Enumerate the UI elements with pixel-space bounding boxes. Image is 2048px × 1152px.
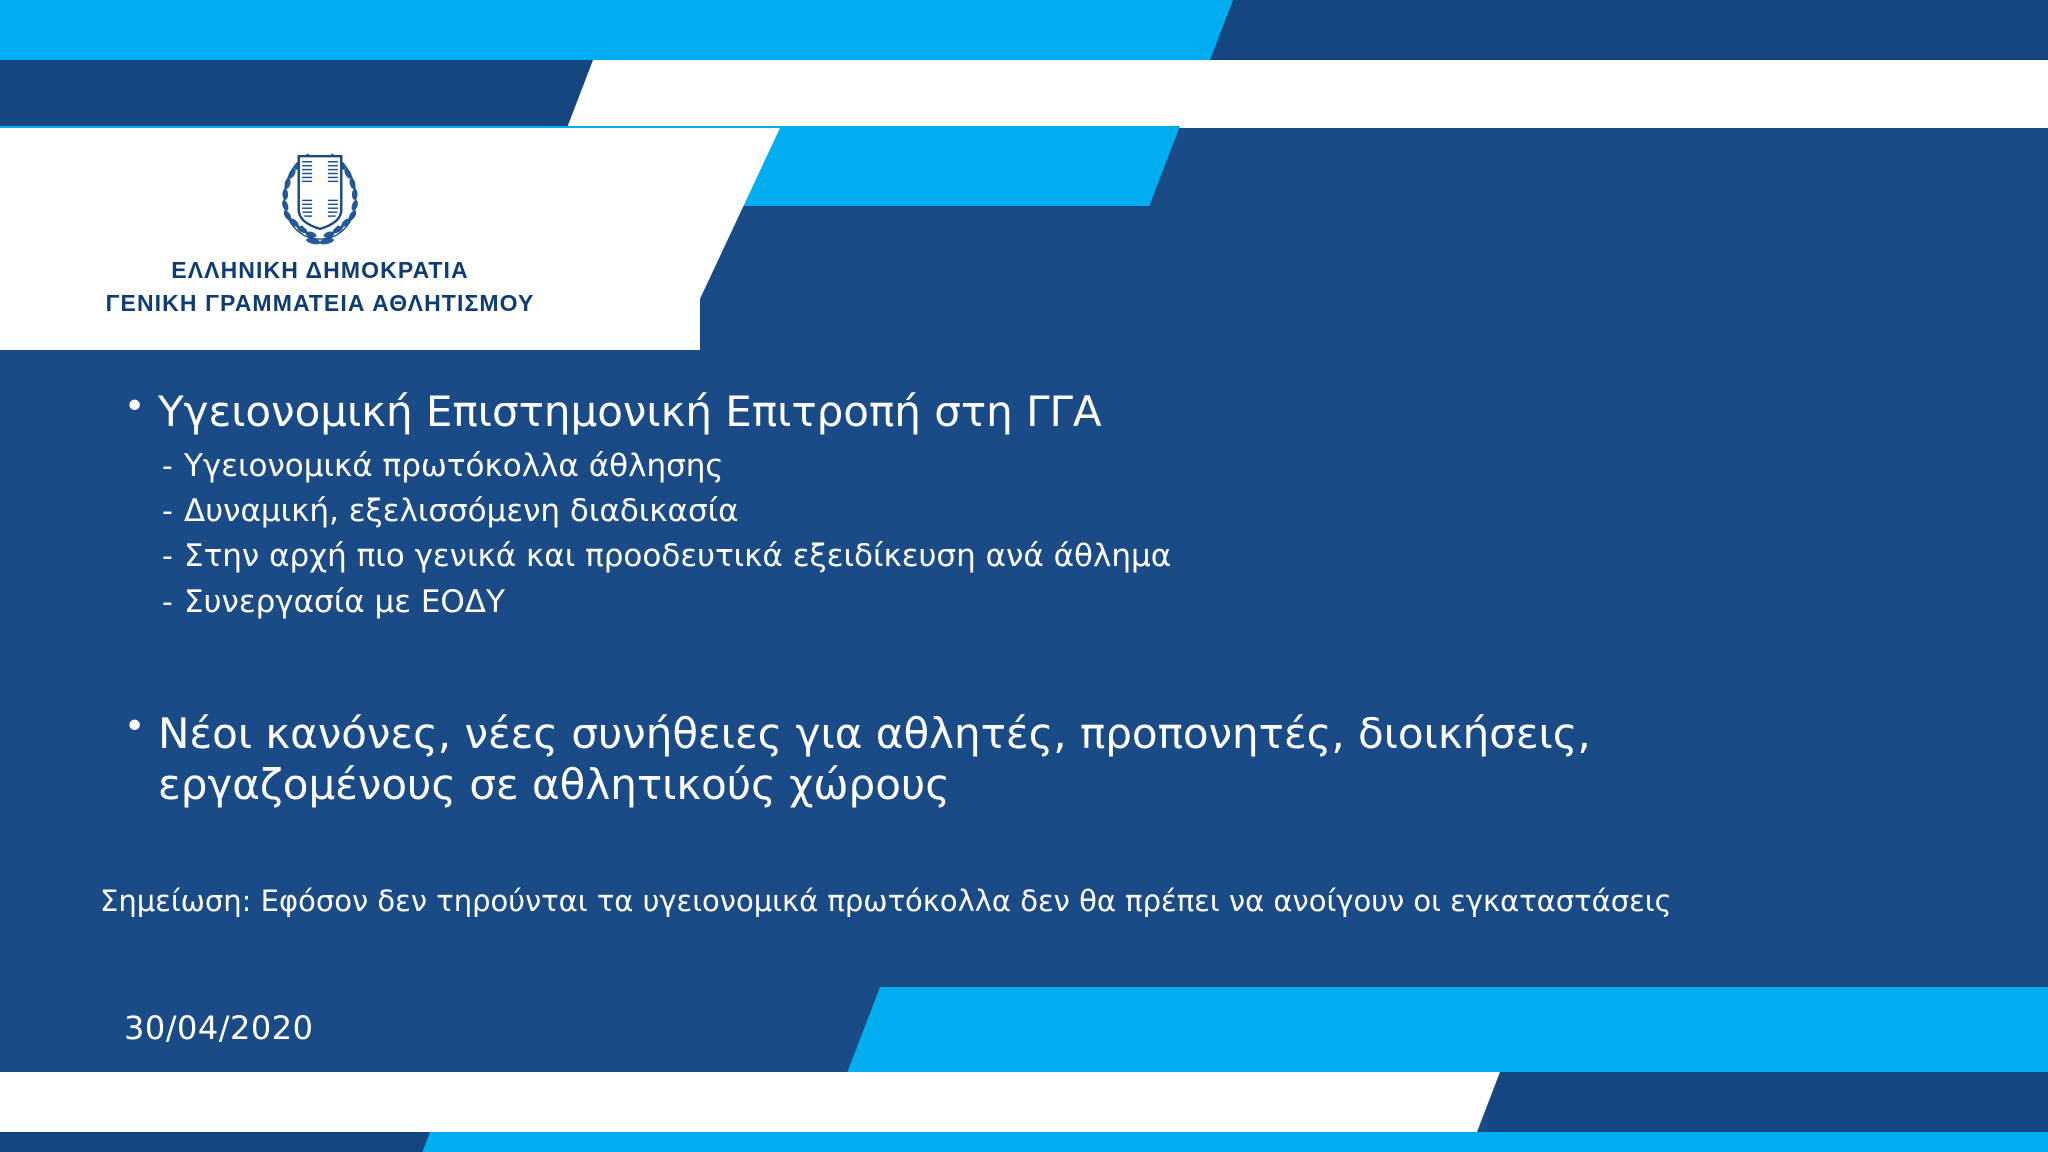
bullet-1-sub-list: - Υγειονομικά πρωτόκολλα άθλησης - Δυναμ… (162, 446, 1954, 622)
bottom-cyan-strip-lower-slanted (415, 1132, 2048, 1152)
bullet-dot-icon: • (124, 388, 158, 427)
dash-icon: - (162, 494, 184, 529)
sub-item-text: Δυναμική, εξελισσόμενη διαδικασία (184, 491, 739, 531)
bottom-decoration-band (0, 962, 2048, 1152)
bottom-navy-strip-right (1488, 1072, 2048, 1134)
sub-item: - Συνεργασία με ΕΟΔΥ (162, 582, 1954, 622)
presentation-slide: ΕΛΛΗΝΙΚΗ ΔΗΜΟΚΡΑΤΙΑ ΓΕΝΙΚΗ ΓΡΑΜΜΑΤΕΙΑ ΑΘ… (0, 0, 2048, 1152)
note-text: Σημείωση: Εφόσον δεν τηρούνται τα υγειον… (100, 883, 1954, 921)
sub-item-text: Στην αρχή πιο γενικά και προοδευτικά εξε… (184, 536, 1171, 576)
org-line-republic: ΕΛΛΗΝΙΚΗ ΔΗΜΟΚΡΑΤΙΑ (106, 254, 535, 287)
sub-item: - Δυναμική, εξελισσόμενη διαδικασία (162, 491, 1954, 531)
bullet-1-text: Υγειονομική Επιστημονική Επιτροπή στη ΓΓ… (158, 388, 1102, 436)
dash-icon: - (162, 585, 184, 620)
bottom-cyan-strip-lower-right (620, 1132, 2048, 1152)
top-cyan-band-left (0, 0, 460, 62)
top-decoration-band (0, 0, 2048, 130)
org-line-secretariat: ΓΕΝΙΚΗ ΓΡΑΜΜΑΤΕΙΑ ΑΘΛΗΤΙΣΜΟΥ (106, 287, 535, 320)
dash-icon: - (162, 539, 184, 574)
bottom-white-strip-left (0, 1072, 1200, 1134)
organization-name-block: ΕΛΛΗΝΙΚΗ ΔΗΜΟΚΡΑΤΙΑ ΓΕΝΙΚΗ ΓΡΑΜΜΑΤΕΙΑ ΑΘ… (106, 254, 535, 319)
logo-panel-slant-edge (620, 128, 780, 350)
sub-item-text: Συνεργασία με ΕΟΔΥ (184, 582, 505, 622)
greek-coat-of-arms-icon (264, 136, 376, 248)
bottom-cyan-band-slanted (845, 987, 2048, 1077)
bullet-2-text: Νέοι κανόνες, νέες συνήθειες για αθλητές… (158, 708, 1798, 810)
bullet-item-2: • Νέοι κανόνες, νέες συνήθειες για αθλητ… (124, 708, 1954, 810)
sub-item: - Στην αρχή πιο γενικά και προοδευτικά ε… (162, 536, 1954, 576)
bottom-white-strip-slanted (0, 1072, 1500, 1134)
slide-content: • Υγειονομική Επιστημονική Επιτροπή στη … (124, 388, 1954, 920)
sub-item-text: Υγειονομικά πρωτόκολλα άθλησης (184, 446, 724, 486)
bullet-item-1: • Υγειονομική Επιστημονική Επιτροπή στη … (124, 388, 1954, 436)
top-navy-strip-left (0, 60, 620, 128)
bottom-cyan-band-right (1160, 987, 2048, 1077)
sub-item: - Υγειονομικά πρωτόκολλα άθλησης (162, 446, 1954, 486)
date-stamp: 30/04/2020 (124, 1009, 313, 1047)
organization-header: ΕΛΛΗΝΙΚΗ ΔΗΜΟΚΡΑΤΙΑ ΓΕΝΙΚΗ ΓΡΑΜΜΑΤΕΙΑ ΑΘ… (0, 132, 640, 347)
top-navy-band-right (1128, 0, 2048, 62)
bullet-dot-icon: • (124, 708, 158, 747)
top-white-strip-slanted (567, 60, 2048, 128)
top-cyan-band-slanted (0, 0, 1233, 60)
dash-icon: - (162, 449, 184, 484)
top-white-strip-right (850, 60, 2048, 128)
bottom-navy-strip-left (0, 1132, 580, 1152)
